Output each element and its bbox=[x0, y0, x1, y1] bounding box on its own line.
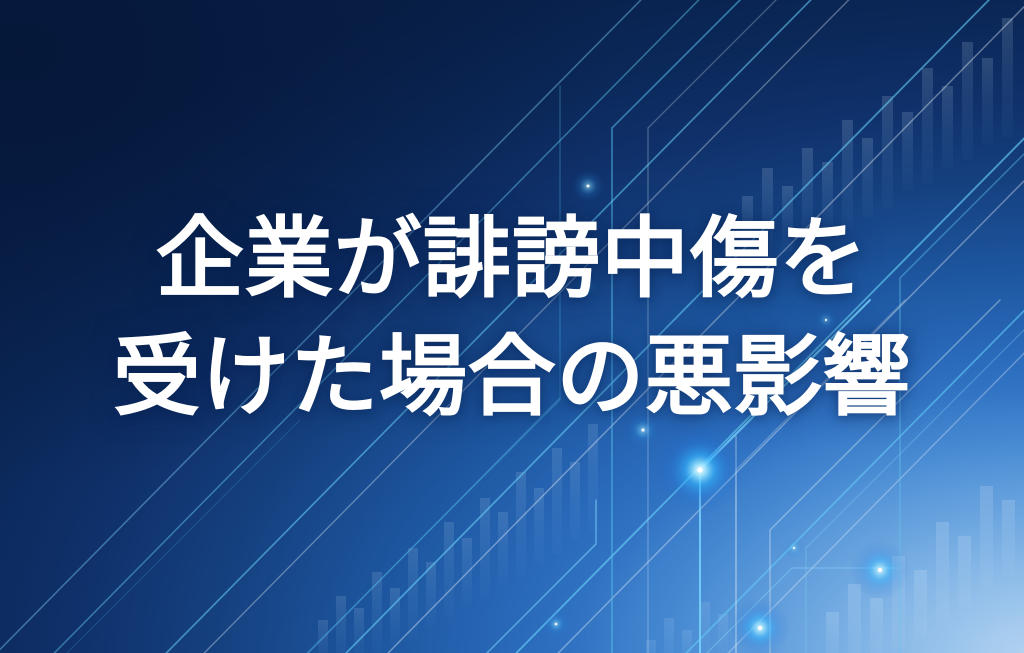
circuit-node-glow-bottom bbox=[730, 598, 790, 653]
bar-chart-strips-mid bbox=[318, 424, 598, 653]
bar-chart-strips-lower-right bbox=[826, 486, 1015, 653]
circuit-node-glow-right bbox=[850, 540, 910, 600]
bar-chart-strips-left-low bbox=[646, 602, 728, 653]
banner: 企業が誹謗中傷を 受けた場合の悪影響 bbox=[0, 0, 1024, 653]
circuit-node-glow-small-d bbox=[543, 611, 569, 637]
circuit-node-glow-small-b bbox=[572, 170, 604, 202]
circuit-node-glow-small-f bbox=[783, 537, 805, 559]
circuit-node-glow-main bbox=[656, 426, 744, 514]
headline-line-1: 企業が誹謗中傷を bbox=[0, 200, 1024, 318]
headline-line-2: 受けた場合の悪影響 bbox=[0, 318, 1024, 436]
page-title: 企業が誹謗中傷を 受けた場合の悪影響 bbox=[0, 200, 1024, 436]
